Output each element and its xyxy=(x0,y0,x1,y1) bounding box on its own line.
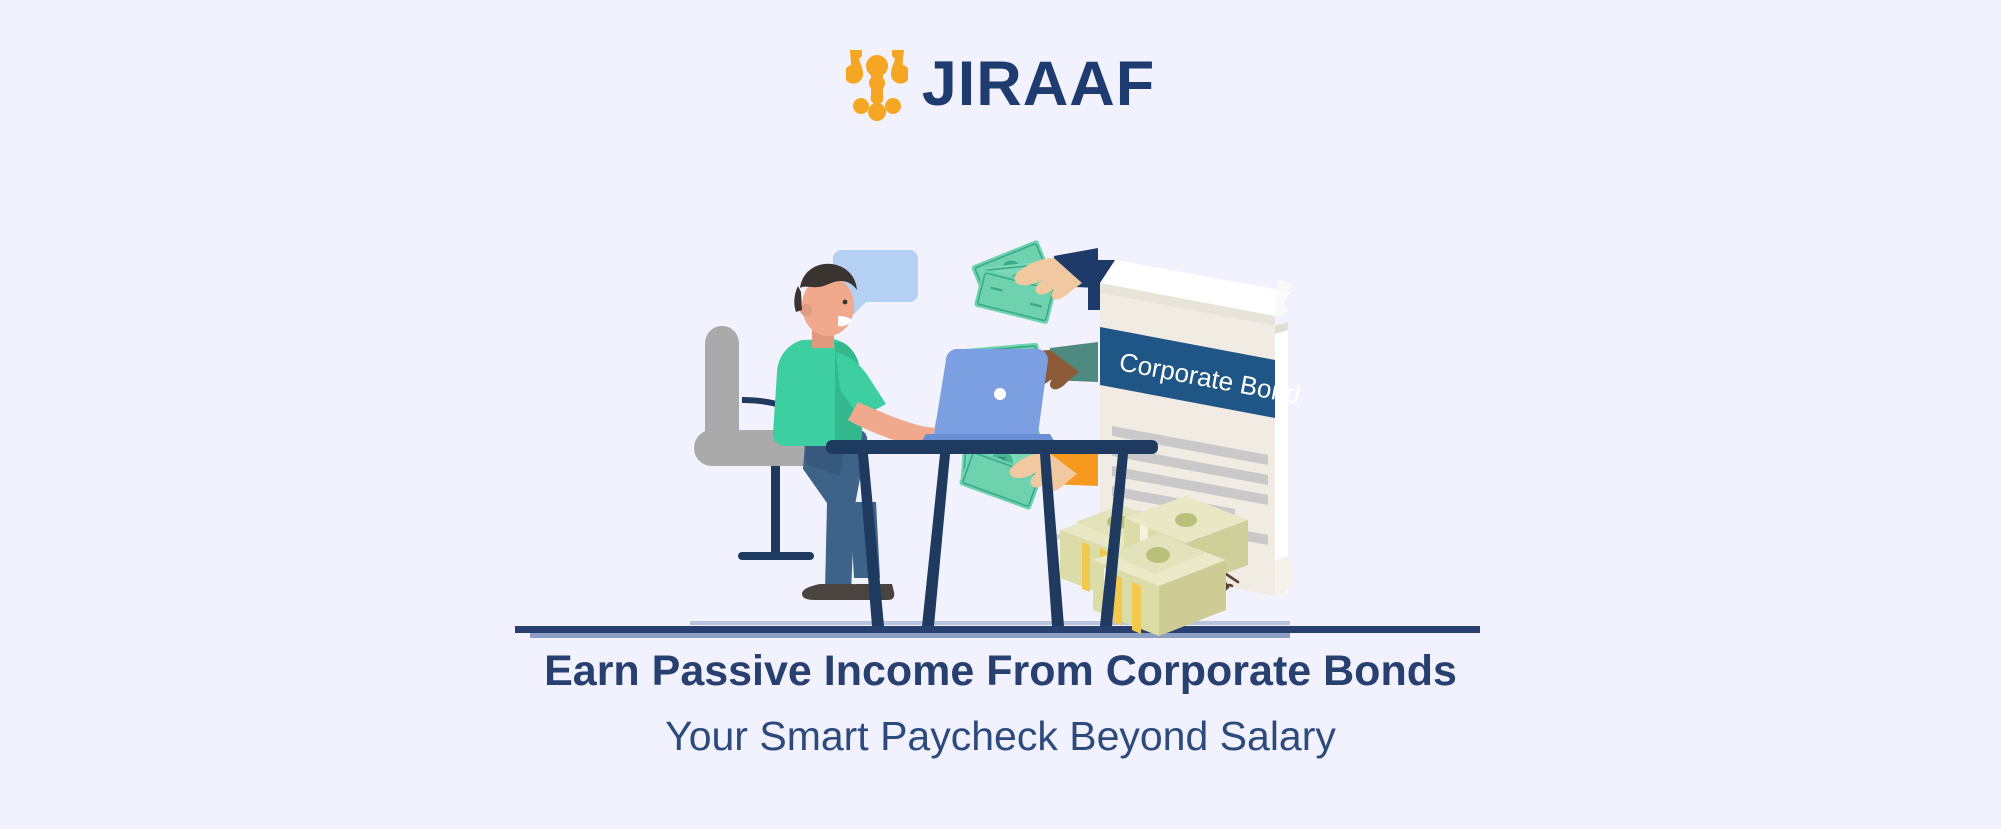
page-subheadline: Your Smart Paycheck Beyond Salary xyxy=(0,711,2001,762)
headings-block: Earn Passive Income From Corporate Bonds… xyxy=(0,645,2001,762)
brand-logo[interactable]: JIRAAF xyxy=(0,46,2001,122)
laptop xyxy=(920,349,1056,444)
jiraaf-logo-mark xyxy=(846,46,908,122)
hand-with-cash-navy-sleeve: ₹ xyxy=(971,239,1098,324)
ground-line xyxy=(515,621,1480,638)
page-headline: Earn Passive Income From Corporate Bonds xyxy=(0,645,2001,699)
page-root: JIRAAF Corporate xyxy=(0,0,2001,829)
cash-bundle-stack xyxy=(1052,496,1248,636)
brand-wordmark: JIRAAF xyxy=(922,53,1156,116)
passive-income-corporate-bonds-illustration: Corporate Bond xyxy=(0,230,2001,650)
